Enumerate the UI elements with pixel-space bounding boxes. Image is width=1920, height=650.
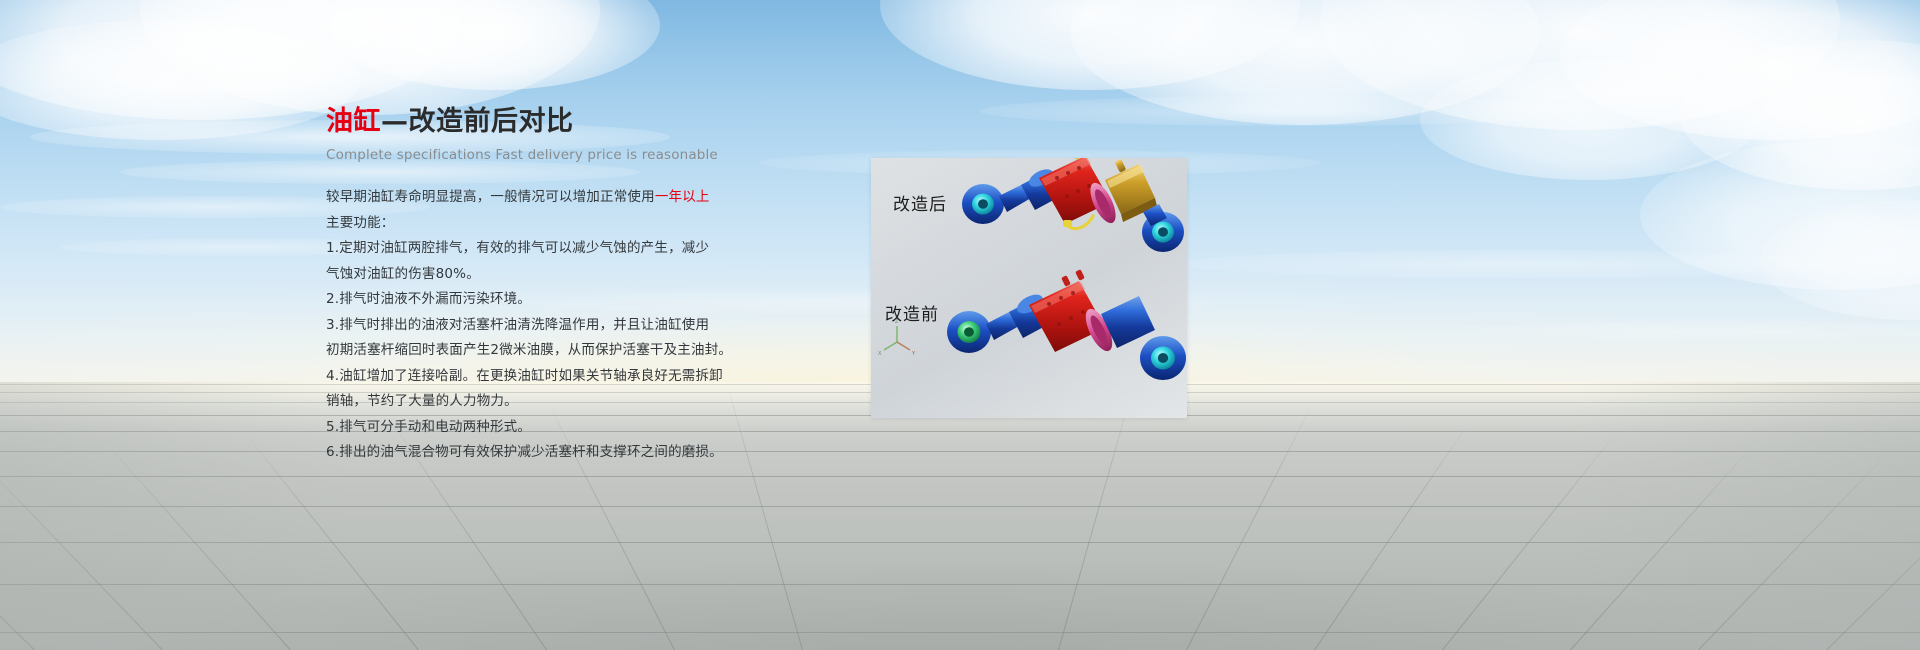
feature-line-text: 1.定期对油缸两腔排气，有效的排气可以减少气蚀的产生，减少 — [326, 240, 709, 256]
feature-line: 6.排出的油气混合物可有效保护减少活塞杆和支撑环之间的磨损。 — [326, 440, 796, 466]
pavement-ground — [0, 382, 1920, 650]
feature-line: 较早期油缸寿命明显提高，一般情况可以增加正常使用一年以上 — [326, 185, 796, 211]
promo-banner: 油缸—改造前后对比 Complete specifications Fast d… — [0, 0, 1920, 650]
feature-line: 1.定期对油缸两腔排气，有效的排气可以减少气蚀的产生，减少 — [326, 236, 796, 262]
page-subtitle: Complete specifications Fast delivery pr… — [326, 145, 796, 165]
axis-label-y: Y — [911, 351, 916, 357]
feature-line: 4.油缸增加了连接哈副。在更换油缸时如果关节轴承良好无需拆卸 — [326, 364, 796, 390]
page-title-rest: —改造前后对比 — [381, 106, 574, 137]
feature-line: 2.排气时油液不外漏而污染环境。 — [326, 287, 796, 313]
feature-line: 5.排气可分手动和电动两种形式。 — [326, 415, 796, 441]
page-title-highlight: 油缸 — [326, 106, 381, 137]
feature-line-text: 5.排气可分手动和电动两种形式。 — [326, 419, 531, 435]
axis-label-z: Z — [895, 319, 899, 325]
cylinder-before — [947, 269, 1186, 380]
feature-line-text: 3.排气时排出的油液对活塞杆油清洗降温作用，并且让油缸使用 — [326, 317, 709, 333]
axis-label-x: X — [878, 351, 882, 357]
feature-line: 3.排气时排出的油液对活塞杆油清洗降温作用，并且让油缸使用 — [326, 313, 796, 339]
feature-line-text: 气蚀对油缸的伤害80%。 — [326, 266, 480, 282]
feature-line-text: 4.油缸增加了连接哈副。在更换油缸时如果关节轴承良好无需拆卸 — [326, 368, 723, 384]
feature-line: 销轴，节约了大量的人力物力。 — [326, 389, 796, 415]
feature-line-text: 2.排气时油液不外漏而污染环境。 — [326, 291, 531, 307]
feature-line-text: 较早期油缸寿命明显提高，一般情况可以增加正常使用 — [326, 189, 655, 205]
feature-list: 较早期油缸寿命明显提高，一般情况可以增加正常使用一年以上主要功能：1.定期对油缸… — [326, 185, 796, 466]
feature-line: 主要功能： — [326, 211, 796, 237]
feature-line: 初期活塞杆缩回时表面产生2微米油膜，从而保护活塞干及主油封。 — [326, 338, 796, 364]
feature-line-text: 主要功能： — [326, 215, 395, 231]
copy-block: 油缸—改造前后对比 Complete specifications Fast d… — [326, 104, 796, 466]
feature-line-highlight: 一年以上 — [655, 189, 710, 205]
ground-vignette — [0, 382, 1920, 650]
feature-line-text: 6.排出的油气混合物可有效保护减少活塞杆和支撑环之间的磨损。 — [326, 444, 723, 460]
feature-line-text: 销轴，节约了大量的人力物力。 — [326, 393, 518, 409]
feature-line: 气蚀对油缸的伤害80%。 — [326, 262, 796, 288]
feature-line-text: 初期活塞杆缩回时表面产生2微米油膜，从而保护活塞干及主油封。 — [326, 342, 732, 358]
page-title: 油缸—改造前后对比 — [326, 104, 796, 140]
hydraulic-cylinder-diagram: Z X Y — [871, 158, 1187, 418]
cad-comparison-panel: 改造后 改造前 — [871, 158, 1187, 418]
cylinder-after — [962, 158, 1184, 252]
coordinate-axis-icon: Z X Y — [878, 319, 916, 357]
